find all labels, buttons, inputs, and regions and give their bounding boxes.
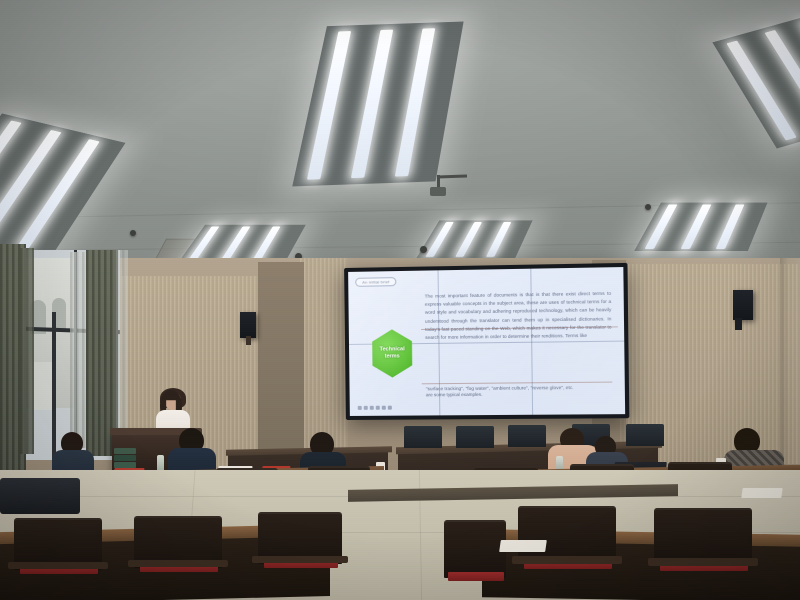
bookstack bbox=[114, 455, 136, 461]
chair-row3-aisle[interactable] bbox=[440, 520, 510, 600]
chair-row3-4[interactable] bbox=[512, 506, 622, 600]
slide-surface: An initial brief Technical terms The mos… bbox=[348, 267, 625, 416]
fluorescent-tube bbox=[351, 30, 393, 178]
slide-indicator-dot[interactable] bbox=[370, 406, 374, 410]
dais-chair-empty bbox=[626, 424, 664, 446]
hexagon-label: Technical terms bbox=[369, 329, 416, 378]
chair-row3-3[interactable] bbox=[252, 512, 348, 594]
slide-indicator-dot[interactable] bbox=[358, 406, 362, 410]
speaker-bracket-right bbox=[735, 318, 742, 330]
video-wall-display[interactable]: An initial brief Technical terms The mos… bbox=[344, 263, 629, 420]
chair-armrest bbox=[8, 562, 108, 569]
speaker-bracket-left bbox=[246, 336, 251, 345]
projector-device bbox=[430, 187, 446, 196]
chair-armrest bbox=[648, 558, 758, 566]
slide-tag-chip: An initial brief bbox=[355, 277, 396, 287]
dais-chair-empty bbox=[404, 426, 442, 448]
slide-indicator-dot[interactable] bbox=[364, 406, 368, 410]
chair-cushion bbox=[448, 572, 504, 581]
fluorescent-tube bbox=[716, 204, 745, 248]
sprinkler-head-icon bbox=[130, 230, 136, 236]
slide-tail-line: are some typical examples. bbox=[426, 390, 610, 399]
slide-indicators[interactable] bbox=[358, 406, 392, 410]
slide-indicator-dot[interactable] bbox=[382, 406, 386, 410]
wall-door-left bbox=[258, 262, 304, 458]
chair-row3-2[interactable] bbox=[128, 516, 228, 598]
dais-chair-empty bbox=[456, 426, 494, 448]
fluorescent-tube bbox=[395, 29, 435, 177]
slide-body-text: The most important feature of documents … bbox=[425, 290, 612, 343]
smoke-detector-icon bbox=[645, 204, 651, 210]
paper-document bbox=[741, 488, 782, 498]
chair-armrest bbox=[512, 556, 622, 564]
fluorescent-tube bbox=[681, 204, 712, 248]
curtain-left-fold bbox=[20, 248, 34, 454]
chair-backrest bbox=[444, 520, 506, 578]
dais-chair-empty bbox=[508, 425, 546, 447]
fluorescent-tube bbox=[0, 130, 61, 238]
wall-slat-panel-center bbox=[300, 258, 348, 453]
slide-indicator-dot[interactable] bbox=[376, 406, 380, 410]
wall-speaker-left bbox=[240, 312, 256, 338]
foreground-bag bbox=[0, 478, 80, 514]
chair-row3-5[interactable] bbox=[648, 508, 758, 600]
sprinkler-head-icon bbox=[420, 246, 427, 253]
chair-armrest bbox=[252, 556, 348, 563]
wall-column bbox=[780, 258, 800, 468]
wall-speaker-right bbox=[733, 290, 753, 320]
curtain-right-of-window bbox=[86, 250, 118, 456]
chair-row3-1[interactable] bbox=[8, 518, 108, 600]
slide-indicator-dot[interactable] bbox=[388, 406, 392, 410]
sheer-curtain bbox=[116, 250, 128, 450]
paper-document bbox=[499, 540, 547, 552]
fluorescent-tube bbox=[455, 222, 482, 257]
conference-room-photo: An initial brief Technical terms The mos… bbox=[0, 0, 800, 600]
badge-line-2: terms bbox=[385, 353, 400, 360]
sheer-curtain bbox=[70, 252, 86, 448]
technical-terms-badge: Technical terms bbox=[369, 329, 416, 378]
fluorescent-tube bbox=[486, 222, 512, 257]
chair-armrest bbox=[128, 560, 228, 567]
bookstack bbox=[114, 448, 136, 454]
